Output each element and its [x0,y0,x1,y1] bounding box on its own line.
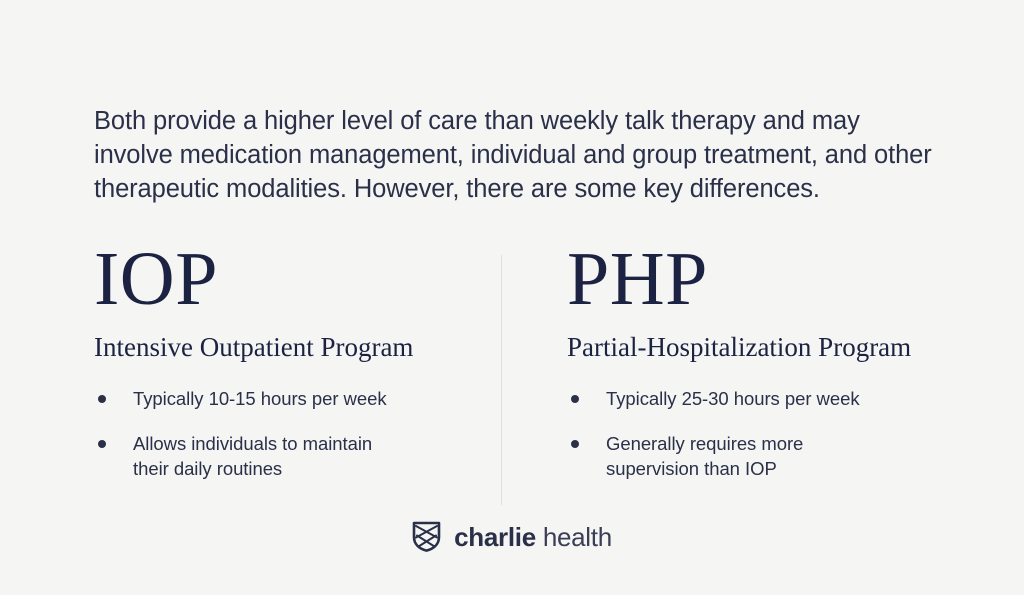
comparison-column-php: PHP Partial-Hospitalization Program Typi… [567,238,967,481]
brand-logo: charlie health [0,521,1024,552]
bullet-dot-icon [571,440,579,448]
bullet-dot-icon [571,395,579,403]
shield-lattice-icon [412,521,441,552]
brand-word-charlie: charlie [454,522,536,552]
comparison-section: IOP Intensive Outpatient Program Typical… [0,238,1024,498]
list-item-label: Typically 10-15 hours per week [133,386,403,411]
bullet-dot-icon [98,440,106,448]
list-item: Typically 25-30 hours per week [567,386,967,411]
list-item-label: Typically 25-30 hours per week [606,386,876,411]
list-item-label: Generally requires more supervision than… [606,431,876,481]
list-item-label: Allows individuals to maintain their dai… [133,431,403,481]
intro-paragraph: Both provide a higher level of care than… [94,104,940,206]
brand-wordmark: charlie health [454,522,612,552]
acronym-heading-iop: IOP [94,238,484,320]
column-divider [501,255,502,505]
list-item: Typically 10-15 hours per week [94,386,484,411]
infographic-page: Both provide a higher level of care than… [0,0,1024,595]
list-item: Generally requires more supervision than… [567,431,967,481]
brand-word-health: health [543,522,612,552]
acronym-expansion-php: Partial-Hospitalization Program [567,330,967,364]
bullet-dot-icon [98,395,106,403]
list-item: Allows individuals to maintain their dai… [94,431,484,481]
comparison-column-iop: IOP Intensive Outpatient Program Typical… [94,238,484,481]
acronym-expansion-iop: Intensive Outpatient Program [94,330,484,364]
bullet-list-iop: Typically 10-15 hours per week Allows in… [94,386,484,481]
acronym-heading-php: PHP [567,238,967,320]
bullet-list-php: Typically 25-30 hours per week Generally… [567,386,967,481]
